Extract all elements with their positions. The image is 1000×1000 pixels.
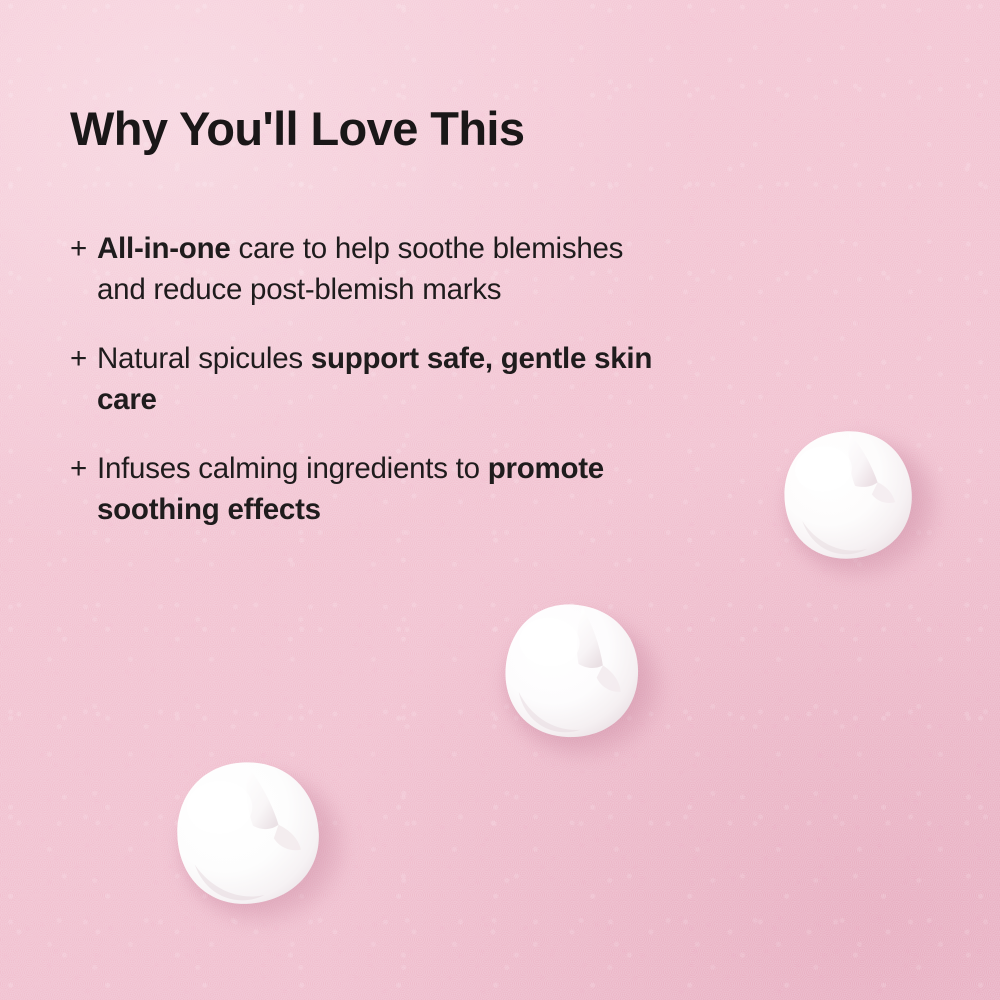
list-item: + All-in-one care to help soothe blemish… [70, 228, 670, 310]
plus-icon: + [70, 448, 87, 489]
list-item-text: Natural spicules [97, 342, 311, 375]
product-feature-card: Why You'll Love This + All-in-one care t… [0, 0, 1000, 1000]
plus-icon: + [70, 338, 87, 379]
page-title: Why You'll Love This [70, 104, 524, 155]
list-item-text: Infuses calming ingredients to [97, 452, 488, 485]
list-item: + Infuses calming ingredients to promote… [70, 448, 670, 530]
benefits-list: + All-in-one care to help soothe blemish… [70, 228, 670, 530]
text-layer: Why You'll Love This + All-in-one care t… [0, 0, 1000, 1000]
plus-icon: + [70, 228, 87, 269]
list-item: + Natural spicules support safe, gentle … [70, 338, 670, 420]
list-item-lead: All-in-one [97, 232, 231, 265]
